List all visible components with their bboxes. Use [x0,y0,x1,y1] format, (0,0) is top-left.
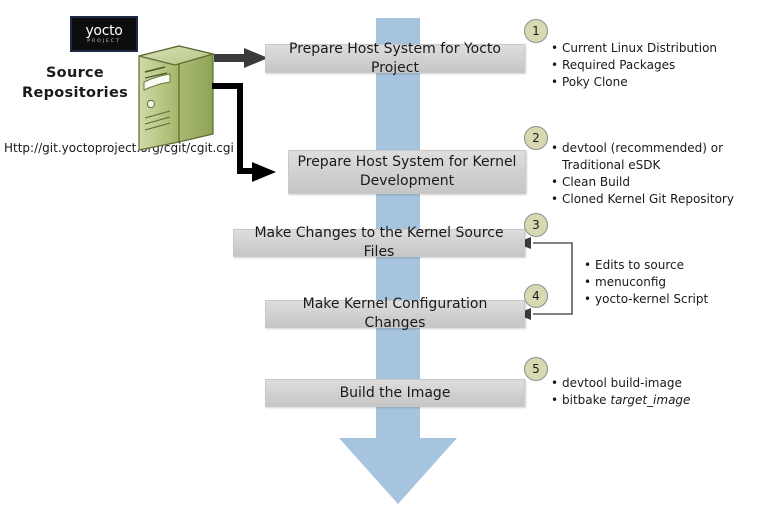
step-circle-1: 1 [524,19,548,43]
source-repositories-label: Source Repositories [10,63,140,103]
bullet-text: bitbake [562,393,610,407]
yocto-project-logo: yocto PROJECT [70,16,138,52]
source-label-line2: Repositories [10,83,140,103]
bullet-item: Cloned Kernel Git Repository [550,191,765,208]
process-box-step-1[interactable]: Prepare Host System for Yocto Project [265,44,525,73]
bullet-item: menuconfig [583,274,763,291]
step-1-bullets: Current Linux Distribution Required Pack… [550,40,765,91]
process-box-step-4[interactable]: Make Kernel Configuration Changes [265,300,525,328]
bullet-item: devtool build-image [550,375,765,392]
process-box-step-3[interactable]: Make Changes to the Kernel Source Files [233,229,525,257]
step-circle-4: 4 [524,284,548,308]
step-circle-2: 2 [524,126,548,150]
bullet-item: Edits to source [583,257,763,274]
server-tower-icon [137,34,217,152]
step-2-bullets: devtool (recommended) or Traditional eSD… [550,140,765,208]
bullet-item: devtool (recommended) or Traditional eSD… [550,140,765,174]
workflow-flow-arrowhead [339,438,457,504]
logo-primary-text: yocto [85,25,122,38]
bullet-item: Poky Clone [550,74,765,91]
bullet-item: Required Packages [550,57,765,74]
step-5-bullets: devtool build-image bitbake target_image [550,375,765,409]
bullet-emphasis: target_image [610,393,690,407]
logo-secondary-text: PROJECT [87,39,120,44]
source-label-line1: Source [10,63,140,83]
bullet-item: yocto-kernel Script [583,291,763,308]
step-circle-3: 3 [524,213,548,237]
step-circle-5: 5 [524,357,548,381]
steps-3-4-bullets: Edits to source menuconfig yocto-kernel … [583,257,763,308]
process-box-step-2[interactable]: Prepare Host System for Kernel Developme… [288,150,526,194]
bullet-item: Clean Build [550,174,765,191]
bullet-item: Current Linux Distribution [550,40,765,57]
process-box-step-5[interactable]: Build the Image [265,379,525,407]
bullet-item: bitbake target_image [550,392,765,409]
diagram-canvas: yocto PROJECT Source Repositories Http:/… [0,0,769,517]
bullet-text: devtool build-image [562,376,682,390]
